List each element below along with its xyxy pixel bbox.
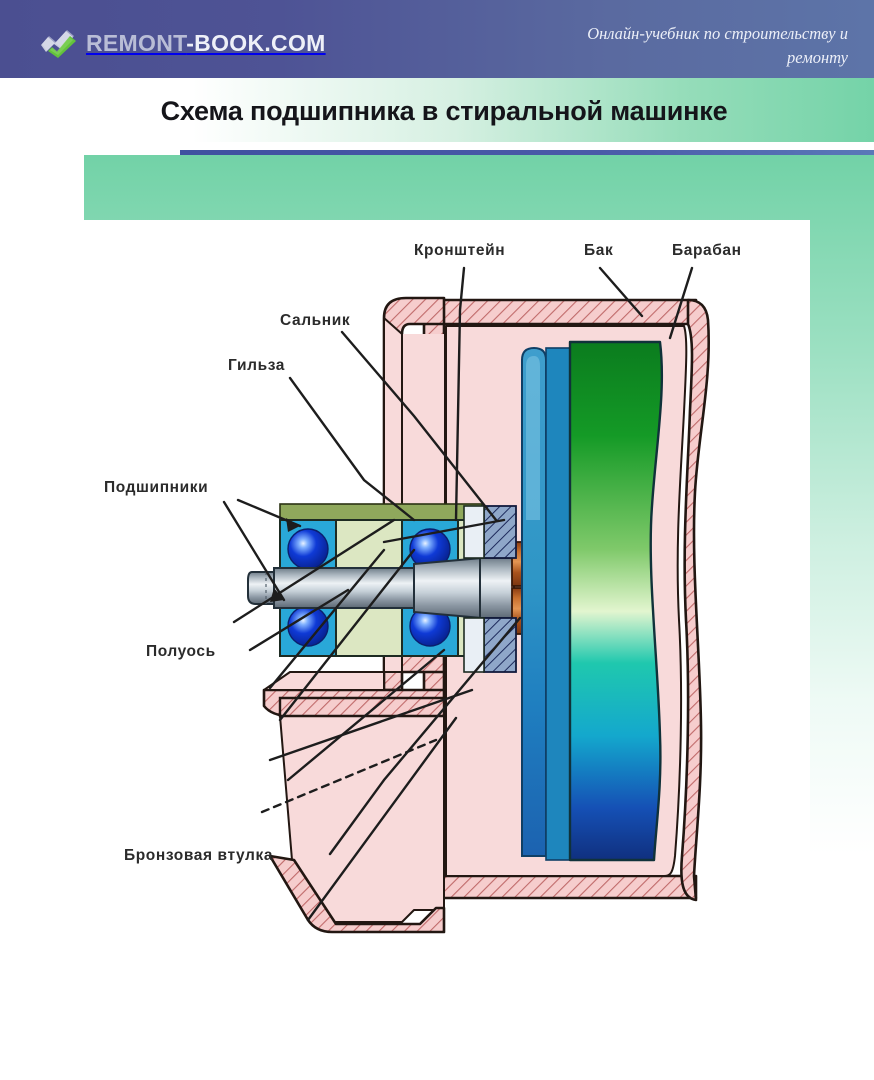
label-baraban: Барабан	[672, 242, 742, 259]
bearing-diagram-svg: Кронштейн Бак Барабан Сальник Гильза Под…	[84, 220, 810, 940]
page-root: REMONT-BOOK.COM Онлайн-учебник по строит…	[0, 0, 874, 1080]
brand-name-lit: -BOOK.COM	[186, 30, 325, 56]
zigzag-checkmark-logo-icon	[40, 28, 78, 58]
label-gilza: Гильза	[228, 357, 285, 374]
site-tagline-line2: ремонту	[478, 46, 848, 70]
page-title: Схема подшипника в стиральной машинке	[0, 96, 874, 127]
brand-name-dim: REMONT	[86, 30, 186, 56]
bearing-ball	[288, 529, 328, 569]
page-background-left-mask	[0, 155, 84, 855]
site-header: REMONT-BOOK.COM Онлайн-учебник по строит…	[0, 0, 874, 78]
label-kronshtein: Кронштейн	[414, 242, 505, 259]
label-bak: Бак	[584, 242, 613, 259]
label-bronzovaya-vtulka: Бронзовая втулка	[124, 847, 273, 864]
label-poluos: Полуось	[146, 643, 216, 660]
site-logo-link[interactable]: REMONT-BOOK.COM	[40, 28, 326, 58]
site-tagline-line1: Онлайн-учебник по строительству и	[478, 22, 848, 46]
bearing-diagram-figure: Кронштейн Бак Барабан Сальник Гильза Под…	[84, 220, 810, 940]
label-salnik: Сальник	[280, 312, 350, 329]
drum-seal-column	[522, 348, 570, 860]
label-podshipniki: Подшипники	[104, 479, 208, 496]
site-tagline: Онлайн-учебник по строительству и ремонт…	[478, 22, 848, 70]
drum-baraban	[570, 342, 662, 860]
brand-wordmark: REMONT-BOOK.COM	[86, 30, 326, 57]
